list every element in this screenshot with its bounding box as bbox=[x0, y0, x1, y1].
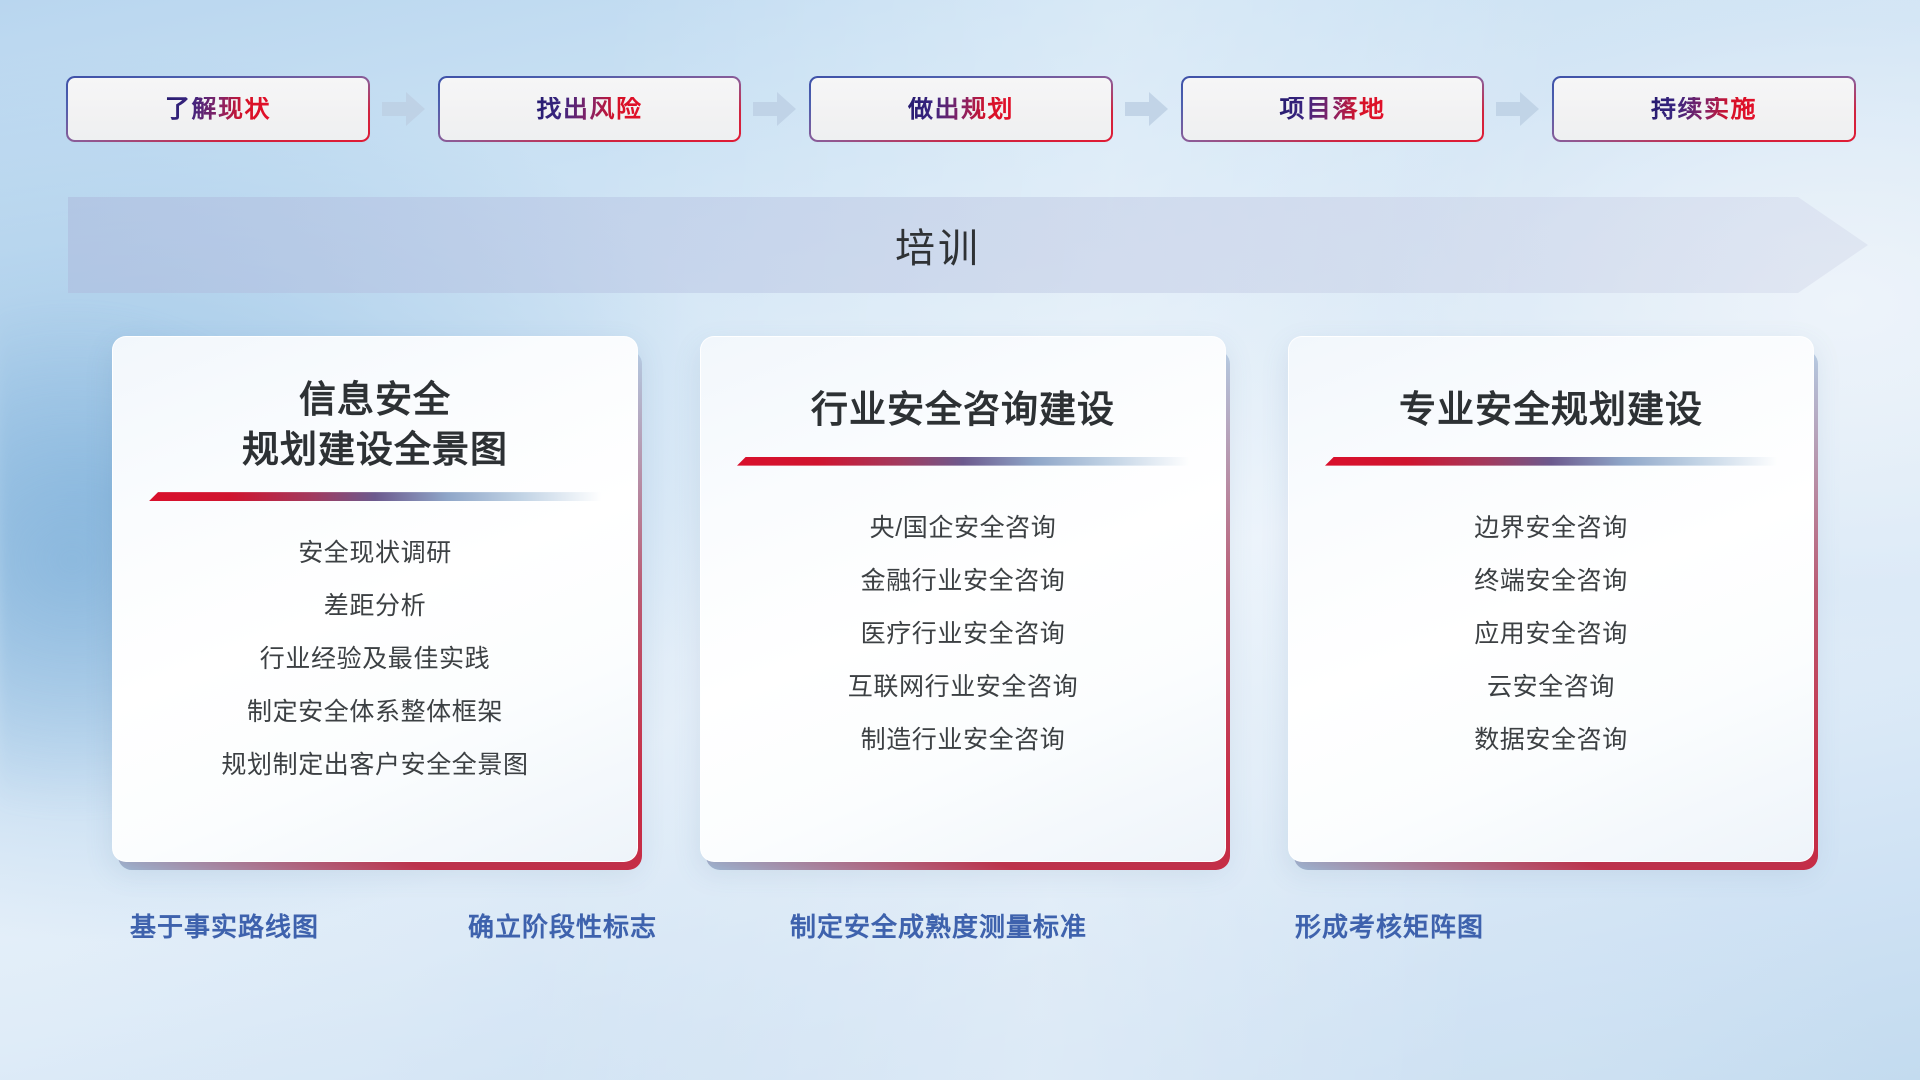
list-item: 安全现状调研 bbox=[298, 527, 452, 580]
list-item: 差距分析 bbox=[324, 580, 426, 633]
card-1-list: 安全现状调研 差距分析 行业经验及最佳实践 制定安全体系整体框架 规划制定出客户… bbox=[113, 527, 637, 792]
card-1-divider bbox=[149, 492, 601, 501]
card-3-title: 专业安全规划建设 bbox=[1321, 385, 1781, 435]
step-arrow-3 bbox=[1111, 87, 1183, 131]
list-item: 央/国企安全咨询 bbox=[870, 502, 1057, 555]
card-3-divider bbox=[1325, 457, 1777, 466]
card-3-body: 专业安全规划建设 边界安全咨询 终端安全咨询 应用安全咨询 云安全咨询 数据安全… bbox=[1288, 336, 1814, 862]
card-3[interactable]: 专业安全规划建设 边界安全咨询 终端安全咨询 应用安全咨询 云安全咨询 数据安全… bbox=[1288, 336, 1818, 870]
step-box-4[interactable]: 项目落地 bbox=[1183, 78, 1483, 140]
card-3-list: 边界安全咨询 终端安全咨询 应用安全咨询 云安全咨询 数据安全咨询 bbox=[1289, 502, 1813, 767]
step-label-2: 找出风险 bbox=[536, 97, 642, 122]
list-item: 制定安全体系整体框架 bbox=[247, 686, 503, 739]
slide-background: 了解现状 找出风险 做出规划 项目落地 bbox=[0, 0, 1920, 1080]
step-label-5: 持续实施 bbox=[1651, 97, 1757, 122]
step-arrow-2 bbox=[740, 87, 812, 131]
process-step-row: 了解现状 找出风险 做出规划 项目落地 bbox=[68, 78, 1854, 140]
training-banner-title: 培训 bbox=[68, 197, 1868, 293]
card-2-list: 央/国企安全咨询 金融行业安全咨询 医疗行业安全咨询 互联网行业安全咨询 制造行… bbox=[701, 502, 1225, 767]
card-1-body: 信息安全 规划建设全景图 安全现状调研 差距分析 行业经验及最佳实践 制定安全体… bbox=[112, 336, 638, 862]
step-arrow-1 bbox=[368, 87, 440, 131]
footer-label-4: 形成考核矩阵图 bbox=[1295, 912, 1484, 943]
card-2-title: 行业安全咨询建设 bbox=[733, 385, 1193, 435]
list-item: 医疗行业安全咨询 bbox=[861, 608, 1066, 661]
list-item: 金融行业安全咨询 bbox=[861, 555, 1066, 608]
footer-label-2: 确立阶段性标志 bbox=[468, 912, 657, 943]
list-item: 应用安全咨询 bbox=[1474, 608, 1628, 661]
card-2[interactable]: 行业安全咨询建设 央/国企安全咨询 金融行业安全咨询 医疗行业安全咨询 互联网行… bbox=[700, 336, 1230, 870]
card-2-body: 行业安全咨询建设 央/国企安全咨询 金融行业安全咨询 医疗行业安全咨询 互联网行… bbox=[700, 336, 1226, 862]
list-item: 制造行业安全咨询 bbox=[861, 714, 1066, 767]
footer-label-row: 基于事实路线图 确立阶段性标志 制定安全成熟度测量标准 形成考核矩阵图 bbox=[0, 912, 1920, 960]
step-label-1: 了解现状 bbox=[165, 97, 271, 122]
step-label-4: 项目落地 bbox=[1279, 97, 1385, 122]
card-1[interactable]: 信息安全 规划建设全景图 安全现状调研 差距分析 行业经验及最佳实践 制定安全体… bbox=[112, 336, 642, 870]
step-arrow-4 bbox=[1483, 87, 1555, 131]
list-item: 终端安全咨询 bbox=[1474, 555, 1628, 608]
list-item: 行业经验及最佳实践 bbox=[260, 633, 490, 686]
card-1-title: 信息安全 规划建设全景图 bbox=[145, 375, 605, 474]
step-box-1[interactable]: 了解现状 bbox=[68, 78, 368, 140]
card-2-divider bbox=[737, 457, 1189, 466]
step-box-3[interactable]: 做出规划 bbox=[811, 78, 1111, 140]
list-item: 互联网行业安全咨询 bbox=[848, 661, 1078, 714]
footer-label-3: 制定安全成熟度测量标准 bbox=[790, 912, 1087, 943]
step-box-2[interactable]: 找出风险 bbox=[440, 78, 740, 140]
list-item: 规划制定出客户安全全景图 bbox=[221, 739, 528, 792]
step-label-3: 做出规划 bbox=[908, 97, 1014, 122]
training-banner: 培训 bbox=[68, 197, 1868, 293]
list-item: 云安全咨询 bbox=[1487, 661, 1615, 714]
list-item: 数据安全咨询 bbox=[1474, 714, 1628, 767]
card-row: 信息安全 规划建设全景图 安全现状调研 差距分析 行业经验及最佳实践 制定安全体… bbox=[112, 336, 1818, 870]
footer-label-1: 基于事实路线图 bbox=[130, 912, 319, 943]
list-item: 边界安全咨询 bbox=[1474, 502, 1628, 555]
step-box-5[interactable]: 持续实施 bbox=[1554, 78, 1854, 140]
